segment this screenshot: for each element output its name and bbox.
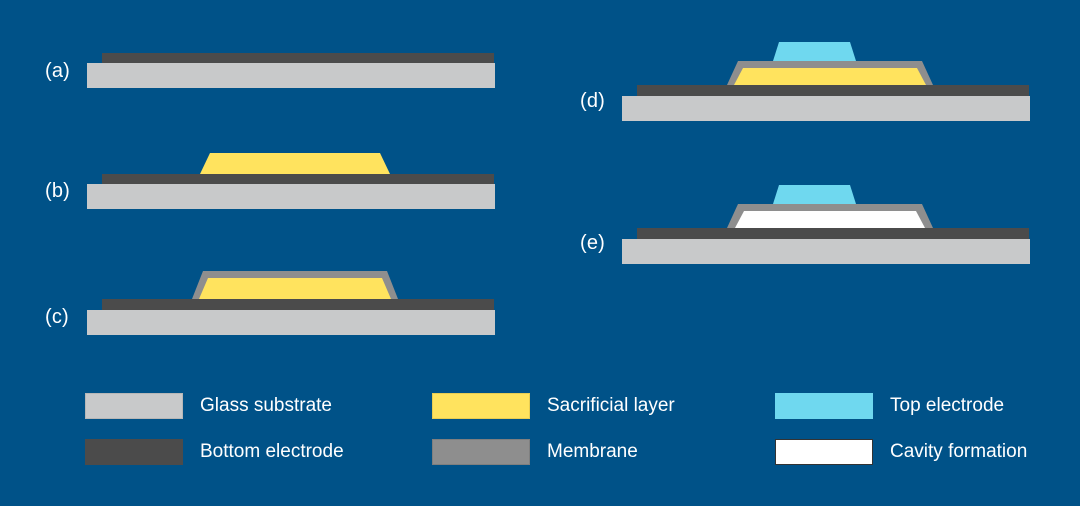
legend-item-membrane: Membrane — [432, 439, 638, 465]
legend: Glass substrate Bottom electrode Sacrifi… — [0, 378, 1080, 478]
panel-e-label: (e) — [580, 232, 605, 255]
legend-item-bottom-electrode: Bottom electrode — [85, 439, 344, 465]
legend-item-sacrificial-layer: Sacrificial layer — [432, 393, 675, 419]
panel-a-label: (a) — [45, 60, 70, 83]
legend-swatch-glass-substrate — [85, 393, 183, 419]
panel-e: (e) — [575, 180, 1045, 265]
panel-b-label: (b) — [45, 180, 70, 203]
layer-sacrificial — [200, 153, 390, 174]
legend-item-glass-substrate: Glass substrate — [85, 393, 332, 419]
layer-glass-substrate — [622, 96, 1030, 121]
legend-label-bottom-electrode: Bottom electrode — [200, 441, 344, 463]
layer-glass-substrate — [87, 63, 495, 88]
panel-d-label: (d) — [580, 90, 605, 113]
panel-c-label: (c) — [45, 306, 69, 329]
layer-top-electrode — [773, 42, 856, 61]
layer-sacrificial — [734, 68, 926, 85]
layer-bottom-electrode — [102, 174, 494, 184]
panel-c: (c) — [40, 258, 510, 338]
layer-bottom-electrode — [102, 53, 494, 63]
panel-a: (a) — [40, 40, 510, 100]
panel-a-cross-section — [40, 40, 510, 100]
legend-swatch-membrane — [432, 439, 530, 465]
legend-swatch-top-electrode — [775, 393, 873, 419]
legend-label-top-electrode: Top electrode — [890, 395, 1004, 417]
panel-c-cross-section — [40, 258, 510, 338]
legend-label-glass-substrate: Glass substrate — [200, 395, 332, 417]
layer-top-electrode — [773, 185, 856, 204]
layer-bottom-electrode — [637, 228, 1029, 239]
panel-e-cross-section — [575, 180, 1045, 265]
figure-canvas: (a) (b) (c) — [0, 0, 1080, 506]
layer-sacrificial — [199, 278, 391, 299]
legend-label-membrane: Membrane — [547, 441, 638, 463]
legend-swatch-sacrificial-layer — [432, 393, 530, 419]
legend-swatch-cavity-formation — [775, 439, 873, 465]
layer-cavity — [735, 211, 925, 228]
legend-label-cavity-formation: Cavity formation — [890, 441, 1027, 463]
legend-label-sacrificial-layer: Sacrificial layer — [547, 395, 675, 417]
layer-bottom-electrode — [637, 85, 1029, 96]
layer-bottom-electrode — [102, 299, 494, 310]
layer-glass-substrate — [622, 239, 1030, 264]
legend-item-cavity-formation: Cavity formation — [775, 439, 1027, 465]
panel-b: (b) — [40, 140, 510, 212]
panel-b-cross-section — [40, 140, 510, 212]
legend-swatch-bottom-electrode — [85, 439, 183, 465]
panel-d-cross-section — [575, 35, 1045, 125]
layer-glass-substrate — [87, 184, 495, 209]
layer-glass-substrate — [87, 310, 495, 335]
panel-d: (d) — [575, 35, 1045, 125]
legend-item-top-electrode: Top electrode — [775, 393, 1004, 419]
